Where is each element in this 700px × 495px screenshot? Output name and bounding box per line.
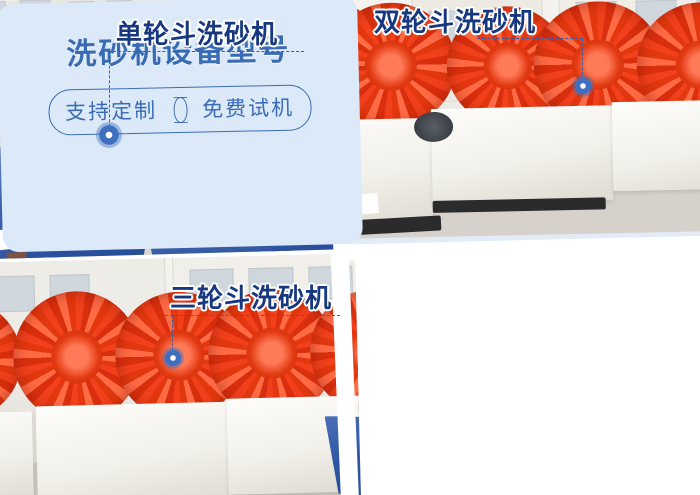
card-badge-group: 支持定制 免费试机 <box>48 84 312 135</box>
leader-line-horizontal-triple-wheel <box>160 315 340 316</box>
badge-divider-icon <box>173 97 187 123</box>
leader-line-vertical-triple-wheel <box>172 315 173 351</box>
marker-dot-double-wheel <box>572 75 594 97</box>
promo-image-canvas: 洗砂机设备型号 支持定制 免费试机 单轮斗洗砂机 双轮斗洗砂机 三轮斗洗砂机 <box>0 0 700 495</box>
leader-line-horizontal-single-wheel <box>108 51 304 52</box>
callout-title-double-wheel: 双轮斗洗砂机 <box>374 2 536 39</box>
marker-dot-single-wheel <box>96 122 122 148</box>
callout-title-triple-wheel: 三轮斗洗砂机 <box>170 278 332 315</box>
leader-line-vertical-single-wheel <box>109 51 110 127</box>
callout-title-single-wheel: 单轮斗洗砂机 <box>116 14 278 51</box>
leader-line-vertical-double-wheel <box>582 38 583 80</box>
marker-dot-triple-wheel <box>162 347 184 369</box>
leader-line-horizontal-double-wheel <box>477 38 583 39</box>
badge-free-trial[interactable]: 免费试机 <box>186 85 311 132</box>
